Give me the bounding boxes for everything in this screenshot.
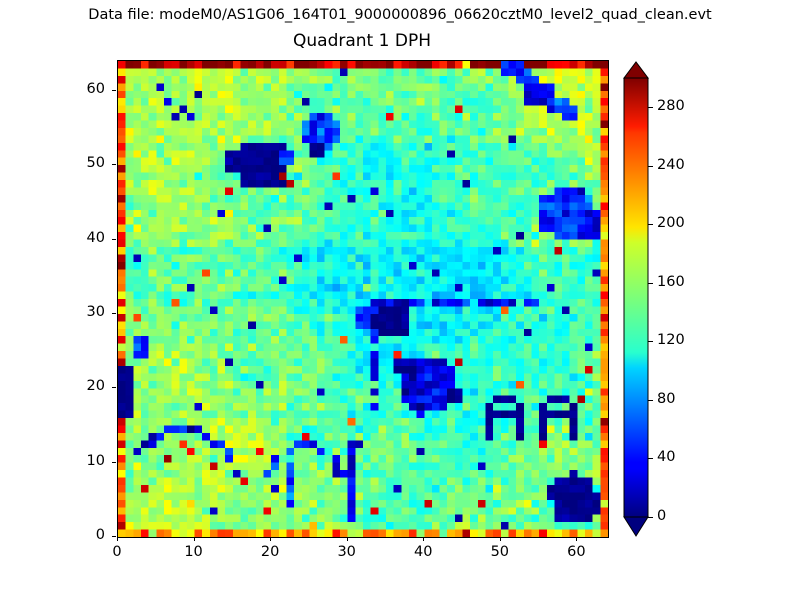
colorbar-tick-mark [648, 224, 653, 225]
colorbar-tick-mark [648, 458, 653, 459]
colorbar-tick-mark [648, 166, 653, 167]
x-tick-label: 30 [317, 544, 377, 561]
y-tick-label: 10 [55, 453, 105, 470]
y-tick-label: 20 [55, 378, 105, 395]
colorbar-tick-label: 120 [657, 332, 685, 349]
y-tick-label: 60 [55, 81, 105, 98]
matplotlib-figure: Data file: modeM0/AS1G06_164T01_90000008… [0, 0, 800, 600]
colorbar-gradient [624, 60, 648, 538]
x-tick-label: 10 [164, 544, 224, 561]
x-tick-mark [194, 537, 195, 541]
colorbar-tick-label: 240 [657, 157, 685, 174]
y-tick-mark [112, 387, 116, 388]
colorbar-tick-mark [648, 283, 653, 284]
x-tick-mark [270, 537, 271, 541]
colorbar[interactable] [624, 60, 648, 538]
y-tick-label: 30 [55, 304, 105, 321]
x-tick-mark [117, 537, 118, 541]
colorbar-tick-mark [648, 107, 653, 108]
y-tick-mark [112, 90, 116, 91]
y-tick-mark [112, 164, 116, 165]
y-tick-mark [112, 462, 116, 463]
colorbar-tick-mark [648, 341, 653, 342]
x-tick-mark [347, 537, 348, 541]
x-tick-mark [500, 537, 501, 541]
colorbar-tick-mark [648, 400, 653, 401]
x-tick-mark [423, 537, 424, 541]
y-tick-mark [112, 536, 116, 537]
x-tick-mark [576, 537, 577, 541]
colorbar-tick-label: 40 [657, 449, 675, 466]
page-title: Quadrant 1 DPH [117, 31, 607, 52]
y-tick-label: 0 [55, 527, 105, 544]
y-tick-mark [112, 313, 116, 314]
x-tick-label: 50 [470, 544, 530, 561]
colorbar-tick-label: 0 [657, 508, 666, 525]
x-tick-label: 20 [240, 544, 300, 561]
x-tick-label: 0 [87, 544, 147, 561]
heatmap-axes[interactable] [117, 60, 609, 538]
colorbar-tick-label: 280 [657, 98, 685, 115]
x-tick-label: 60 [546, 544, 606, 561]
data-file-suptitle: Data file: modeM0/AS1G06_164T01_90000008… [0, 6, 800, 24]
colorbar-tick-label: 80 [657, 391, 675, 408]
colorbar-tick-mark [648, 517, 653, 518]
detector-plane-heatmap[interactable] [118, 61, 608, 537]
y-tick-mark [112, 239, 116, 240]
y-tick-label: 50 [55, 155, 105, 172]
x-tick-label: 40 [393, 544, 453, 561]
colorbar-tick-label: 160 [657, 274, 685, 291]
y-tick-label: 40 [55, 230, 105, 247]
colorbar-tick-label: 200 [657, 215, 685, 232]
